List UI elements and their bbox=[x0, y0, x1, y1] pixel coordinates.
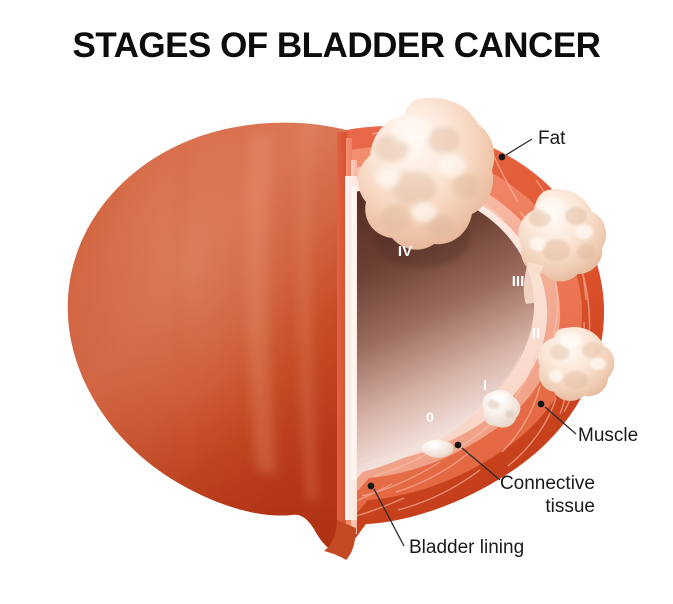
callout-fat-leader bbox=[506, 139, 532, 155]
stage-marker-iii: III bbox=[512, 273, 525, 290]
callout-fat-label: Fat bbox=[538, 128, 566, 149]
callout-lining-dot bbox=[368, 483, 375, 490]
tumor-i-highlight bbox=[493, 393, 507, 403]
callout-connective-label-line2: tissue bbox=[545, 496, 595, 517]
bladder-diagram: IV III II I 0 Fat Muscle bbox=[0, 0, 673, 604]
stage-marker-iv: IV bbox=[398, 243, 412, 260]
callout-lining-label: Bladder lining bbox=[409, 537, 524, 558]
stage-marker-i: I bbox=[483, 377, 487, 393]
callout-fat-dot bbox=[499, 154, 506, 161]
callout-connective-label-line1: Connective bbox=[500, 473, 595, 494]
tumor-0-highlight bbox=[428, 442, 440, 448]
stage-marker-0: 0 bbox=[426, 409, 434, 425]
callout-fat: Fat bbox=[499, 128, 567, 160]
callout-muscle-label: Muscle bbox=[578, 425, 638, 446]
callout-connective-dot bbox=[455, 442, 462, 449]
bladder-body bbox=[68, 123, 346, 551]
stage-marker-ii: II bbox=[532, 325, 540, 342]
callout-muscle-dot bbox=[538, 401, 545, 408]
illustration-canvas: STAGES OF BLADDER CANCER bbox=[0, 0, 673, 604]
